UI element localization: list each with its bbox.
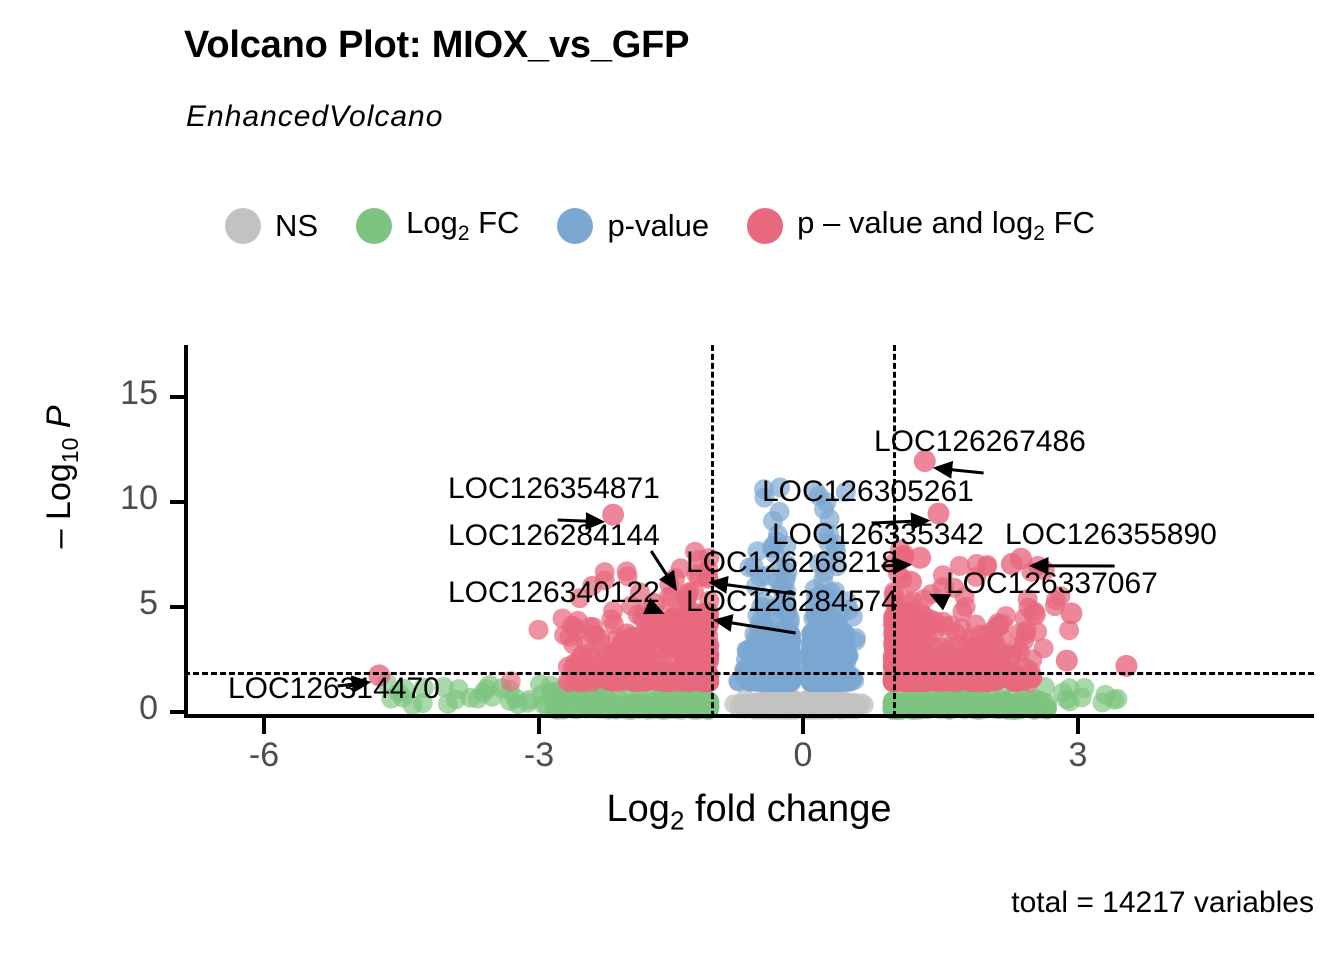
data-point [774, 696, 793, 715]
data-point [786, 694, 805, 713]
data-point [500, 691, 520, 711]
data-point [801, 673, 820, 692]
data-point [777, 667, 796, 686]
data-point [780, 694, 799, 713]
data-point [753, 659, 772, 678]
data-point [835, 622, 854, 641]
data-point [778, 673, 797, 692]
data-point [806, 649, 825, 668]
data-point [808, 697, 827, 716]
data-point [813, 672, 832, 691]
data-point [774, 672, 793, 691]
data-point [766, 630, 785, 649]
data-point [782, 697, 801, 716]
data-point [810, 640, 829, 659]
data-point [804, 673, 823, 692]
data-point [785, 696, 804, 715]
data-point [833, 673, 852, 692]
data-point [773, 673, 792, 692]
data-point [839, 673, 858, 692]
data-point [770, 696, 789, 715]
data-point [807, 697, 826, 716]
data-point [821, 695, 840, 714]
data-point [828, 692, 847, 711]
data-point [768, 697, 787, 716]
data-point [824, 691, 843, 710]
data-point [763, 694, 782, 713]
data-point [822, 673, 841, 692]
data-point [779, 696, 798, 715]
data-point [781, 697, 800, 716]
data-point [825, 695, 844, 714]
data-point [805, 660, 824, 679]
data-point [779, 630, 798, 649]
data-point [771, 626, 790, 645]
data-point [778, 694, 797, 713]
data-point [773, 666, 792, 685]
data-point [748, 693, 767, 712]
data-point [807, 693, 826, 712]
data-point [802, 696, 821, 715]
data-point [769, 695, 788, 714]
data-point [804, 632, 823, 651]
data-point [781, 651, 800, 670]
data-point [786, 692, 805, 711]
data-point [802, 649, 821, 668]
data-point [780, 644, 799, 663]
data-point [773, 693, 792, 712]
data-point [782, 693, 801, 712]
data-point [814, 695, 833, 714]
data-point [746, 672, 765, 691]
data-point [698, 692, 718, 712]
data-point [887, 693, 907, 713]
data-point [814, 661, 833, 680]
data-point [825, 692, 844, 711]
data-point [778, 696, 797, 715]
data-point [805, 696, 824, 715]
data-point [761, 695, 780, 714]
data-point [808, 666, 827, 685]
data-point [770, 661, 789, 680]
data-point [824, 667, 843, 686]
data-point [770, 697, 789, 716]
data-point [810, 691, 829, 710]
data-point [786, 696, 805, 715]
data-point [798, 696, 817, 715]
data-point [780, 643, 799, 662]
data-point [771, 628, 790, 647]
data-point [800, 696, 819, 715]
data-point [780, 654, 799, 673]
data-point [801, 695, 820, 714]
data-point [811, 673, 830, 692]
data-point [815, 641, 834, 660]
data-point [810, 697, 829, 716]
data-point [805, 646, 824, 665]
data-point [819, 649, 838, 668]
data-point [767, 696, 786, 715]
data-point [759, 696, 778, 715]
data-point [779, 673, 798, 692]
data-point [752, 691, 771, 710]
data-point [623, 695, 643, 715]
data-point [786, 695, 805, 714]
data-point [816, 689, 835, 708]
data-point [829, 673, 848, 692]
data-point [784, 691, 803, 710]
data-point [781, 638, 800, 657]
data-point [779, 696, 798, 715]
data-point [822, 691, 841, 710]
data-point [781, 692, 800, 711]
data-point [800, 693, 819, 712]
data-point [754, 661, 773, 680]
data-point [776, 691, 795, 710]
data-point [775, 647, 794, 666]
data-point [823, 660, 842, 679]
data-point [774, 668, 793, 687]
data-point [803, 696, 822, 715]
data-point [763, 697, 782, 716]
data-point [763, 673, 782, 692]
data-point [774, 697, 793, 716]
data-point [776, 695, 795, 714]
data-point [802, 673, 821, 692]
data-point [832, 624, 851, 643]
data-point [803, 697, 822, 716]
data-point [781, 668, 800, 687]
data-point [782, 694, 801, 713]
data-point [807, 696, 826, 715]
data-point [780, 629, 799, 648]
data-point [914, 695, 934, 715]
data-point [801, 696, 820, 715]
data-point [783, 696, 802, 715]
data-point [800, 695, 819, 714]
data-point [782, 695, 801, 714]
data-point [823, 697, 842, 716]
data-point [822, 631, 841, 650]
data-point [755, 666, 774, 685]
data-point [742, 696, 761, 715]
data-point [803, 673, 822, 692]
data-point [759, 627, 778, 646]
data-point [830, 672, 849, 691]
data-point [772, 673, 791, 692]
data-point [747, 659, 766, 678]
data-point [749, 695, 768, 714]
data-point [779, 672, 798, 691]
data-point [780, 673, 799, 692]
data-point [776, 651, 795, 670]
data-point [782, 667, 801, 686]
data-point [780, 627, 799, 646]
data-point [812, 646, 831, 665]
data-point [801, 695, 820, 714]
data-point [785, 696, 804, 715]
data-point [810, 653, 829, 672]
data-point [822, 667, 841, 686]
data-point [835, 628, 854, 647]
data-point [804, 673, 823, 692]
data-point [787, 695, 806, 714]
data-point [756, 630, 775, 649]
data-point [895, 695, 915, 715]
data-point [804, 668, 823, 687]
data-point [819, 673, 838, 692]
data-point [784, 696, 803, 715]
data-point [806, 672, 825, 691]
data-point [780, 630, 799, 649]
data-point [770, 692, 789, 711]
data-point [816, 673, 835, 692]
data-point [784, 693, 803, 712]
data-point [911, 691, 931, 711]
data-point [769, 697, 788, 716]
data-point [897, 692, 917, 712]
data-point [778, 694, 797, 713]
data-point [801, 697, 820, 716]
data-point [836, 638, 855, 657]
data-point [775, 646, 794, 665]
data-point [815, 694, 834, 713]
data-point [811, 697, 830, 716]
data-point [814, 638, 833, 657]
data-point [778, 692, 797, 711]
data-point [760, 695, 779, 714]
data-point [806, 650, 825, 669]
data-point [802, 696, 821, 715]
data-point [780, 632, 799, 651]
data-point [761, 696, 780, 715]
data-point [758, 644, 777, 663]
data-point [782, 653, 801, 672]
data-point [760, 636, 779, 655]
data-point [809, 693, 828, 712]
data-point [964, 694, 984, 714]
data-point [687, 695, 707, 715]
data-point [771, 673, 790, 692]
data-point [830, 672, 849, 691]
data-point [977, 693, 997, 713]
data-point [802, 697, 821, 716]
data-point [823, 633, 842, 652]
data-point [804, 672, 823, 691]
data-point [837, 630, 856, 649]
data-point [784, 696, 803, 715]
legend-item-both[interactable]: p – value and log2 FC [747, 205, 1133, 246]
data-point [797, 697, 816, 716]
data-point [834, 643, 853, 662]
data-point [810, 693, 829, 712]
data-point [745, 647, 764, 666]
data-point [785, 696, 804, 715]
data-point [814, 673, 833, 692]
data-point [802, 632, 821, 651]
data-point [763, 697, 782, 716]
data-point [812, 673, 831, 692]
data-point [778, 696, 797, 715]
data-point [649, 685, 669, 705]
data-point [823, 650, 842, 669]
data-point [823, 673, 842, 692]
data-point [756, 694, 775, 713]
data-point [698, 693, 718, 713]
data-point [798, 695, 817, 714]
data-point [801, 693, 820, 712]
data-point [799, 697, 818, 716]
data-point [799, 695, 818, 714]
data-point [778, 625, 797, 644]
data-point [761, 650, 780, 669]
data-point [776, 696, 795, 715]
data-point [480, 675, 500, 695]
data-point [804, 673, 823, 692]
data-point [801, 695, 820, 714]
data-point [802, 692, 821, 711]
data-point [786, 692, 805, 711]
data-point [821, 641, 840, 660]
data-point [811, 661, 830, 680]
data-point [802, 693, 821, 712]
data-point [812, 694, 831, 713]
data-point [570, 693, 590, 713]
data-point [782, 673, 801, 692]
data-point [665, 691, 685, 711]
data-point [820, 639, 839, 658]
data-point [763, 640, 782, 659]
data-point [816, 625, 835, 644]
data-point [773, 647, 792, 666]
data-point [768, 673, 787, 692]
data-point [765, 691, 784, 710]
legend-item-pvalue[interactable]: p-value [557, 208, 747, 244]
data-point [760, 693, 779, 712]
data-point [828, 672, 847, 691]
data-point [815, 626, 834, 645]
data-point [757, 692, 776, 711]
data-point [783, 691, 802, 710]
data-point [750, 641, 769, 660]
data-point [816, 673, 835, 692]
data-point [778, 652, 797, 671]
data-point [815, 673, 834, 692]
data-point [773, 667, 792, 686]
data-point [806, 651, 825, 670]
data-point [782, 696, 801, 715]
legend-item-log2fc[interactable]: Log2 FC [356, 205, 557, 246]
data-point [800, 693, 819, 712]
data-point [805, 623, 824, 642]
data-point [780, 692, 799, 711]
data-point [569, 679, 589, 699]
data-point [800, 697, 819, 716]
data-point [806, 691, 825, 710]
data-point [798, 696, 817, 715]
data-point [762, 695, 781, 714]
data-point [784, 692, 803, 711]
data-point [824, 673, 843, 692]
data-point [775, 694, 794, 713]
data-point [786, 696, 805, 715]
data-point [823, 642, 842, 661]
data-point [768, 627, 787, 646]
data-point [823, 624, 842, 643]
data-point [753, 651, 772, 670]
data-point [767, 643, 786, 662]
data-point [821, 623, 840, 642]
data-point [809, 696, 828, 715]
data-point [762, 628, 781, 647]
data-point [764, 672, 783, 691]
data-point [774, 667, 793, 686]
data-point [814, 655, 833, 674]
data-point [802, 696, 821, 715]
data-point [955, 696, 975, 716]
data-point [759, 673, 778, 692]
data-point [781, 695, 800, 714]
data-point [762, 654, 781, 673]
data-point [817, 635, 836, 654]
data-point [831, 673, 850, 692]
data-point [730, 694, 749, 713]
data-point [832, 697, 851, 716]
legend-item-ns[interactable]: NS [225, 208, 356, 244]
data-point [783, 695, 802, 714]
data-point [770, 632, 789, 651]
data-point [781, 696, 800, 715]
data-point [813, 696, 832, 715]
data-point [761, 668, 780, 687]
data-point [826, 673, 845, 692]
data-point [778, 695, 797, 714]
data-point [765, 673, 784, 692]
data-point [602, 692, 622, 712]
data-point [806, 631, 825, 650]
data-point [769, 624, 788, 643]
data-point [776, 673, 795, 692]
data-point [589, 681, 609, 701]
data-point [549, 696, 569, 716]
data-point [770, 637, 789, 656]
data-point [768, 659, 787, 678]
data-point [942, 687, 962, 707]
data-point [805, 673, 824, 692]
data-point [804, 696, 823, 715]
data-point [782, 673, 801, 692]
data-point [802, 696, 821, 715]
data-point [837, 672, 856, 691]
data-point [774, 695, 793, 714]
data-point [769, 691, 788, 710]
data-point [803, 696, 822, 715]
data-point [801, 638, 820, 657]
data-point [819, 666, 838, 685]
data-point [812, 692, 831, 711]
data-point [840, 697, 859, 716]
data-point [805, 694, 824, 713]
data-point [762, 662, 781, 681]
data-point [778, 672, 797, 691]
data-point [814, 626, 833, 645]
data-point [758, 695, 777, 714]
data-point [762, 637, 781, 656]
data-point [762, 673, 781, 692]
data-point [781, 697, 800, 716]
data-point [774, 649, 793, 668]
data-point [801, 641, 820, 660]
